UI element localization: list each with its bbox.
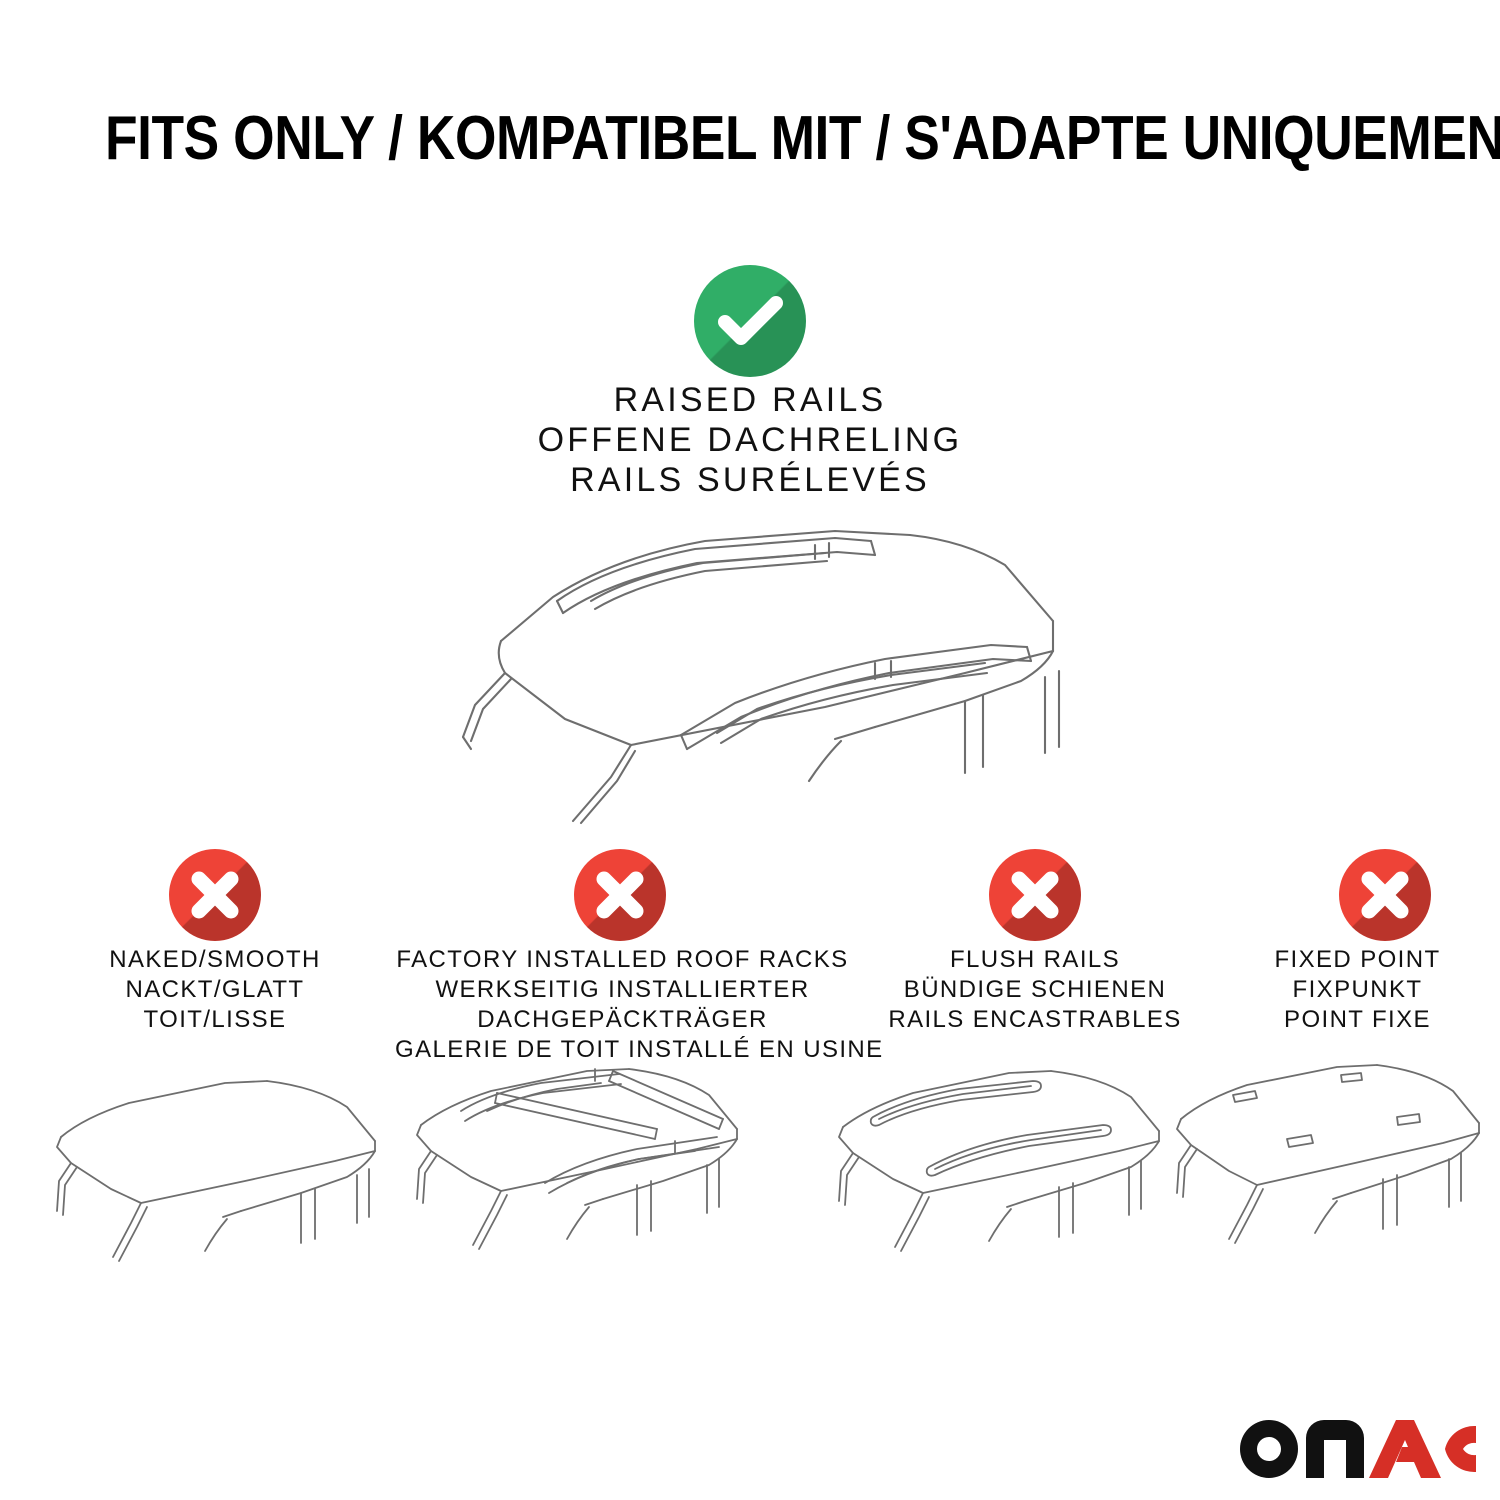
label-line: FACTORY INSTALLED ROOF RACKS — [395, 945, 850, 975]
label-line: NACKT/GLATT — [40, 975, 390, 1005]
label-line: WERKSEITIG INSTALLIERTER — [395, 975, 850, 1005]
label-line: NAKED/SMOOTH — [40, 945, 390, 975]
compatible-label-line-1: RAISED RAILS — [614, 381, 887, 419]
logo-letter-a — [1369, 1420, 1441, 1478]
check-circle-icon — [694, 265, 806, 377]
label-line: POINT FIXE — [1215, 1005, 1500, 1035]
cross-circle-icon-naked-smooth — [169, 849, 261, 941]
label-line: FIXED POINT — [1215, 945, 1500, 975]
incompatible-label-factory-racks: FACTORY INSTALLED ROOF RACKS WERKSEITIG … — [395, 945, 850, 1065]
compatible-label-line-2: OFFENE DACHRELING — [538, 421, 963, 459]
logo-letter-o — [1240, 1420, 1298, 1478]
incompatible-label-fixed-point: FIXED POINT FIXPUNKT POINT FIXE — [1215, 945, 1500, 1035]
cross-circle-icon-fixed-point — [1339, 849, 1431, 941]
label-line: FIXPUNKT — [1215, 975, 1500, 1005]
cross-circle-icon-factory-racks — [574, 849, 666, 941]
label-line: FLUSH RAILS — [855, 945, 1215, 975]
incompatible-label-naked-smooth: NAKED/SMOOTH NACKT/GLATT TOIT/LISSE — [40, 945, 390, 1035]
label-line: RAILS ENCASTRABLES — [855, 1005, 1215, 1035]
car-roof-fixed-point-illustration — [1175, 1055, 1500, 1285]
car-roof-raised-rails-illustration — [405, 505, 1135, 835]
label-line: TOIT/LISSE — [40, 1005, 390, 1035]
logo-letter-m — [1306, 1420, 1364, 1478]
cross-circle-icon-flush-rails — [989, 849, 1081, 941]
incompatible-label-flush-rails: FLUSH RAILS BÜNDIGE SCHIENEN RAILS ENCAS… — [855, 945, 1215, 1035]
logo-letter-c — [1445, 1426, 1476, 1472]
car-roof-flush-rails-illustration — [835, 1055, 1210, 1285]
car-roof-naked-smooth-illustration — [55, 1055, 420, 1285]
label-line: DACHGEPÄCKTRÄGER — [395, 1005, 850, 1035]
compatible-label-line-3: RAILS SURÉLEVÉS — [570, 461, 930, 499]
compatible-label: RAISED RAILS OFFENE DACHRELING RAILS SUR… — [380, 380, 1120, 500]
label-line: BÜNDIGE SCHIENEN — [855, 975, 1215, 1005]
car-roof-factory-racks-illustration — [405, 1055, 780, 1285]
page-title: FITS ONLY / KOMPATIBEL MIT / S'ADAPTE UN… — [105, 104, 1395, 174]
omac-logo — [1236, 1410, 1476, 1482]
